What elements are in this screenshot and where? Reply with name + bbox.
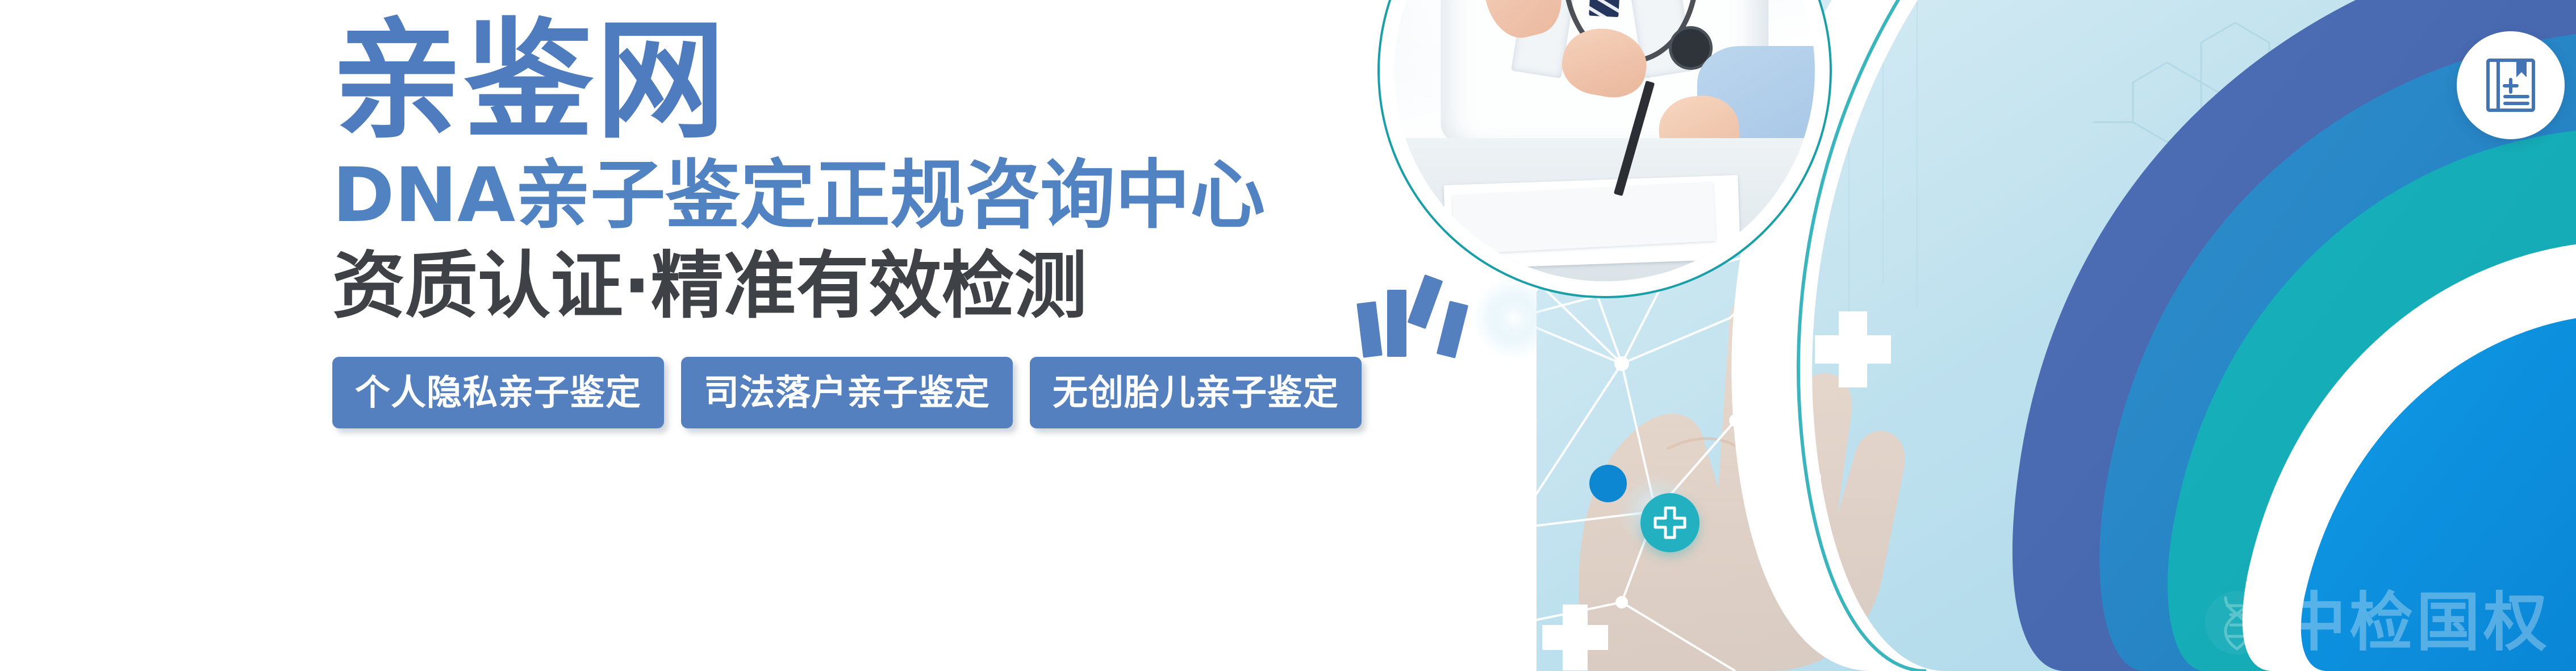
brand-tagline: 资质认证·精准有效检测 <box>332 233 1477 323</box>
banner-content: 亲鉴网 DNA亲子鉴定正规咨询中心 资质认证·精准有效检测 个人隐私亲子鉴定 司… <box>0 0 1477 671</box>
service-button-prenatal[interactable]: 无创胎儿亲子鉴定 <box>1030 357 1362 428</box>
stethoscope-head-icon <box>1672 29 1710 67</box>
medical-cross-icon <box>1653 506 1687 540</box>
watermark: 中检国权 <box>2204 590 2550 656</box>
watermark-text: 中检国权 <box>2282 591 2550 655</box>
promo-banner: 中检国权 亲鉴网 DNA亲子鉴定正规咨询中心 资质认证·精准有效检测 个人隐私亲… <box>0 0 2576 671</box>
medical-book-icon <box>2485 57 2537 114</box>
medical-book-badge[interactable] <box>2457 31 2565 139</box>
brand-subtitle: DNA亲子鉴定正规咨询中心 <box>332 145 1477 233</box>
service-button-private[interactable]: 个人隐私亲子鉴定 <box>332 357 664 428</box>
page-title: 亲鉴网 <box>332 0 1477 145</box>
dna-helix-icon <box>2204 590 2270 656</box>
service-button-row: 个人隐私亲子鉴定 司法落户亲子鉴定 无创胎儿亲子鉴定 <box>332 323 1477 428</box>
service-button-judicial[interactable]: 司法落户亲子鉴定 <box>681 357 1013 428</box>
blue-dot-decoration <box>1589 465 1627 502</box>
medical-cross-badge <box>1640 493 1700 552</box>
